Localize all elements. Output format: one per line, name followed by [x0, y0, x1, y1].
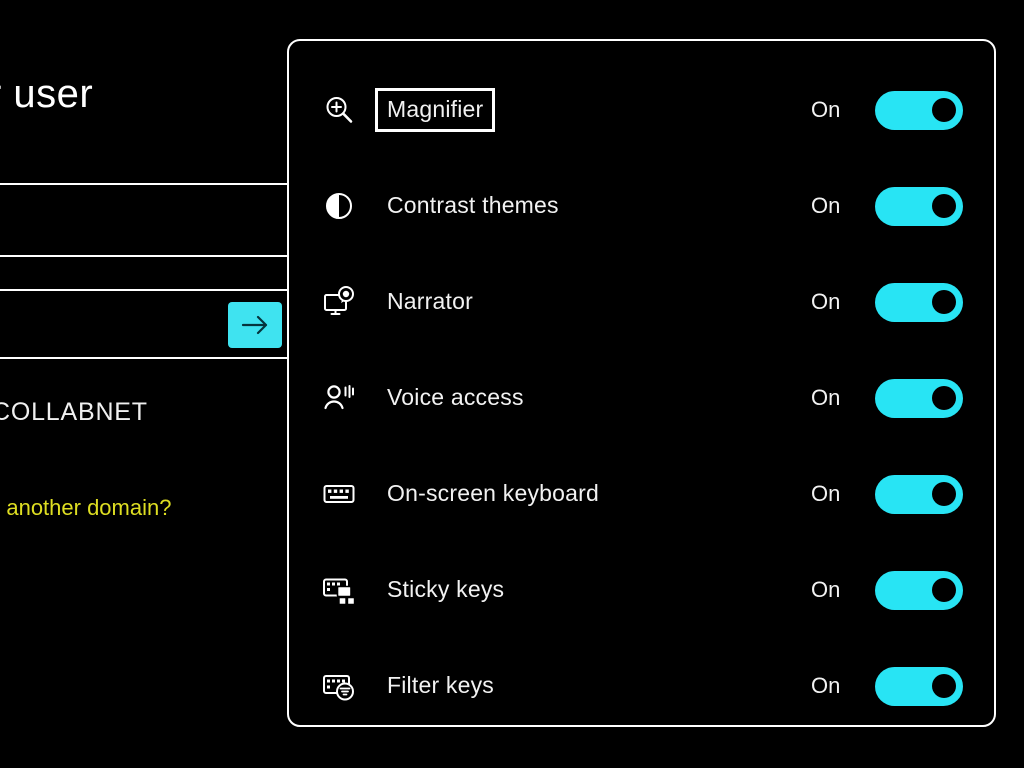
arrow-right-icon	[240, 314, 270, 336]
field-divider	[0, 255, 290, 257]
setting-label: Voice access	[380, 381, 531, 415]
setting-label: Narrator	[380, 285, 480, 319]
toggle-magnifier[interactable]	[875, 91, 963, 130]
field-divider	[0, 357, 290, 359]
setting-row-filter-keys[interactable]: Filter keys On	[289, 638, 994, 727]
toggle-knob	[932, 386, 956, 410]
setting-label-wrap: Narrator	[360, 285, 807, 319]
toggle-knob	[932, 194, 956, 218]
setting-label-wrap: On-screen keyboard	[360, 477, 807, 511]
domain-name: COLLABNET	[0, 398, 148, 427]
setting-label-wrap: Contrast themes	[360, 189, 807, 223]
toggle-knob	[932, 98, 956, 122]
accessibility-panel: Magnifier On Contrast themes On	[287, 39, 996, 727]
setting-label: Contrast themes	[380, 189, 566, 223]
toggle-filter-keys[interactable]	[875, 667, 963, 706]
setting-row-on-screen-keyboard[interactable]: On-screen keyboard On	[289, 446, 994, 542]
setting-state: On	[807, 577, 875, 603]
setting-state: On	[807, 289, 875, 315]
setting-row-contrast-themes[interactable]: Contrast themes On	[289, 158, 994, 254]
toggle-knob	[932, 482, 956, 506]
setting-label-wrap: Voice access	[360, 381, 807, 415]
toggle-contrast-themes[interactable]	[875, 187, 963, 226]
filter-keys-icon	[318, 665, 360, 707]
login-screen: r user COLLABNET o another domain?	[0, 0, 290, 768]
on-screen-keyboard-icon	[318, 473, 360, 515]
setting-state: On	[807, 481, 875, 507]
toggle-knob	[932, 674, 956, 698]
toggle-sticky-keys[interactable]	[875, 571, 963, 610]
voice-access-icon	[318, 377, 360, 419]
username-field[interactable]	[0, 185, 290, 255]
setting-row-narrator[interactable]: Narrator On	[289, 254, 994, 350]
magnifier-icon	[318, 89, 360, 131]
setting-label-wrap: Sticky keys	[360, 573, 807, 607]
toggle-narrator[interactable]	[875, 283, 963, 322]
setting-label: Magnifier	[380, 93, 490, 127]
setting-label: On-screen keyboard	[380, 477, 606, 511]
contrast-themes-icon	[318, 185, 360, 227]
setting-label-wrap: Magnifier	[360, 93, 807, 127]
accessibility-settings-list: Magnifier On Contrast themes On	[289, 41, 994, 727]
setting-label-wrap: Filter keys	[360, 669, 807, 703]
setting-state: On	[807, 193, 875, 219]
sticky-keys-icon	[318, 569, 360, 611]
sign-in-other-domain-link[interactable]: o another domain?	[0, 495, 171, 521]
setting-state: On	[807, 673, 875, 699]
toggle-voice-access[interactable]	[875, 379, 963, 418]
setting-row-voice-access[interactable]: Voice access On	[289, 350, 994, 446]
setting-row-magnifier[interactable]: Magnifier On	[289, 62, 994, 158]
page-title: r user	[0, 72, 93, 117]
setting-row-sticky-keys[interactable]: Sticky keys On	[289, 542, 994, 638]
setting-state: On	[807, 97, 875, 123]
toggle-on-screen-keyboard[interactable]	[875, 475, 963, 514]
narrator-icon	[318, 281, 360, 323]
toggle-knob	[932, 290, 956, 314]
submit-button[interactable]	[228, 302, 282, 348]
setting-state: On	[807, 385, 875, 411]
toggle-knob	[932, 578, 956, 602]
setting-label: Filter keys	[380, 669, 501, 703]
setting-label: Sticky keys	[380, 573, 511, 607]
